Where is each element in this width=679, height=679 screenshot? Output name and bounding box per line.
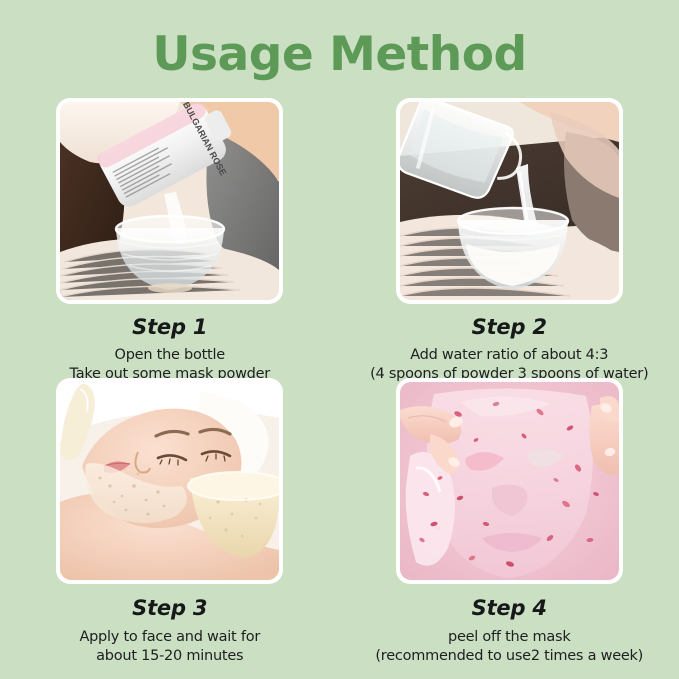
usage-method-infographic: Usage Method [0,0,679,679]
step-label-4: Step 4 [472,598,547,619]
photo-card-1: BULGARIAN ROSE [56,98,283,304]
step-label-3: Step 3 [132,598,207,619]
step-label-1: Step 1 [132,317,207,338]
photo-mask-applied-to-face [60,382,279,580]
photo-water-pouring-into-powder-bowl [400,102,619,300]
step-description-4: peel off the mask (recommended to use2 t… [375,628,643,665]
steps-grid: BULGARIAN ROSE [0,98,679,658]
step-card-3: Step 3 Apply to face and wait for about … [0,378,340,658]
photo-peeling-off-pink-jelly-mask [400,382,619,580]
step-description-3: Apply to face and wait for about 15-20 m… [79,628,260,665]
photo-card-3 [56,378,283,584]
step-card-1: BULGARIAN ROSE [0,98,340,378]
photo-card-4 [396,378,623,584]
step-label-2: Step 2 [472,317,547,338]
page-title: Usage Method [0,30,679,79]
step-card-4: Step 4 peel off the mask (recommended to… [340,378,679,658]
photo-card-2 [396,98,623,304]
step-card-2: Step 2 Add water ratio of about 4:3 (4 s… [340,98,679,378]
photo-bottle-pouring-powder-into-bowl: BULGARIAN ROSE [60,102,279,300]
